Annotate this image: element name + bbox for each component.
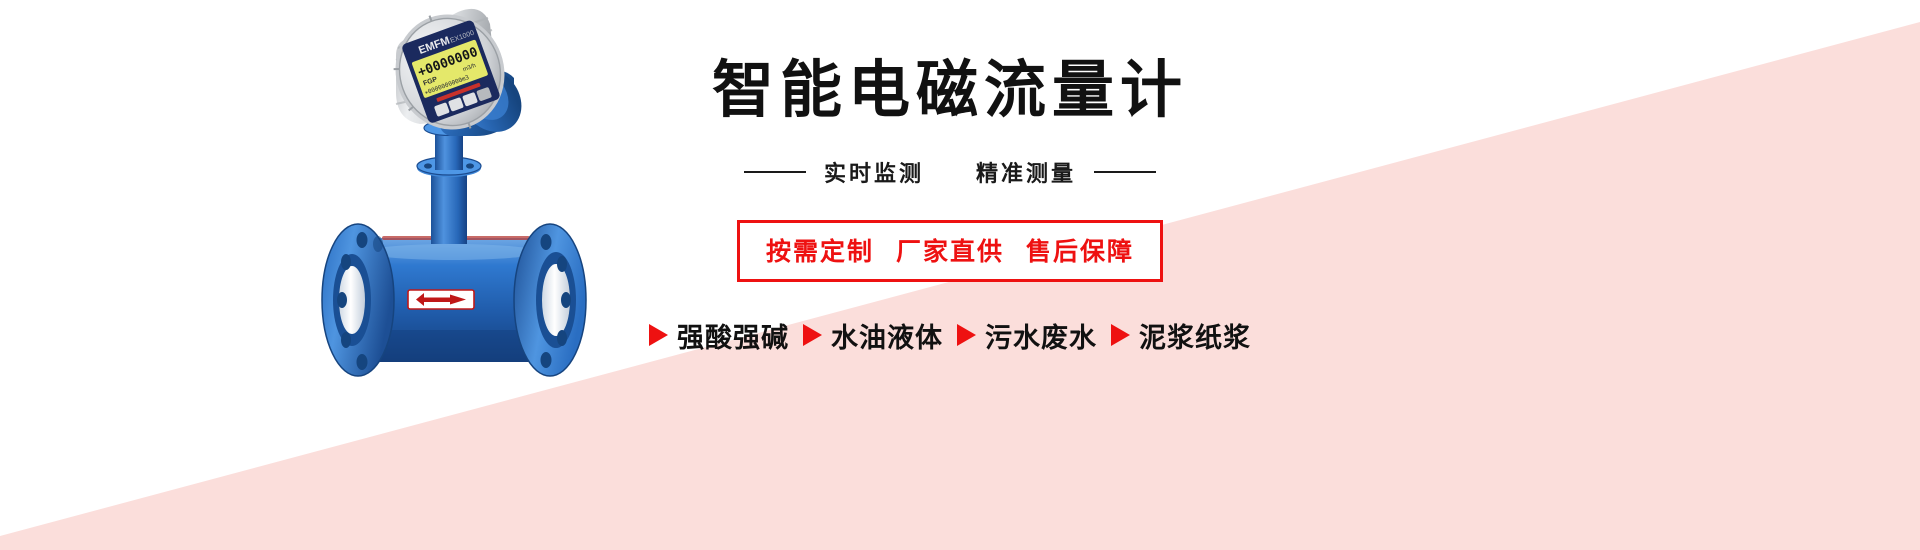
triangle-right-icon (1111, 324, 1130, 346)
page-title: 智能电磁流量计 (712, 52, 1188, 130)
product-banner: EMFM EX1000 +0000000 FGP m3/h +000000000… (0, 0, 1920, 550)
triangle-right-icon (649, 324, 668, 346)
subtitle-right: 精准测量 (976, 156, 1076, 188)
banner-content: 智能电磁流量计 实时监测 精准测量 按需定制 厂家直供 售后保障 强酸强碱 水油… (600, 28, 1300, 388)
meter-neck (417, 121, 481, 245)
promo-item-0: 按需定制 (766, 232, 874, 268)
subtitle-rule-left (744, 171, 806, 173)
subtitle-left: 实时监测 (824, 156, 924, 188)
flowmeter-drawing: EMFM EX1000 +0000000 FGP m3/h +000000000… (300, 0, 630, 430)
triangle-right-icon (803, 324, 822, 346)
feature-item: 污水废水 (957, 316, 1097, 355)
promo-item-1: 厂家直供 (896, 232, 1004, 268)
feature-label: 强酸强碱 (677, 316, 789, 355)
promo-item-2: 售后保障 (1026, 232, 1134, 268)
right-flange (514, 224, 586, 376)
promo-badge: 按需定制 厂家直供 售后保障 (737, 220, 1163, 282)
feature-label: 污水废水 (985, 316, 1097, 355)
feature-item: 水油液体 (803, 316, 943, 355)
flow-direction-arrow (408, 290, 474, 309)
feature-label: 水油液体 (831, 316, 943, 355)
flowmeter-image: EMFM EX1000 +0000000 FGP m3/h +000000000… (300, 0, 630, 430)
triangle-right-icon (957, 324, 976, 346)
feature-item: 泥浆纸浆 (1111, 316, 1251, 355)
feature-item: 强酸强碱 (649, 316, 789, 355)
left-flange (322, 224, 394, 376)
feature-list: 强酸强碱 水油液体 污水废水 泥浆纸浆 (649, 316, 1251, 355)
subtitle-rule-right (1094, 171, 1156, 173)
subtitle-row: 实时监测 精准测量 (744, 156, 1156, 188)
feature-label: 泥浆纸浆 (1139, 316, 1251, 355)
